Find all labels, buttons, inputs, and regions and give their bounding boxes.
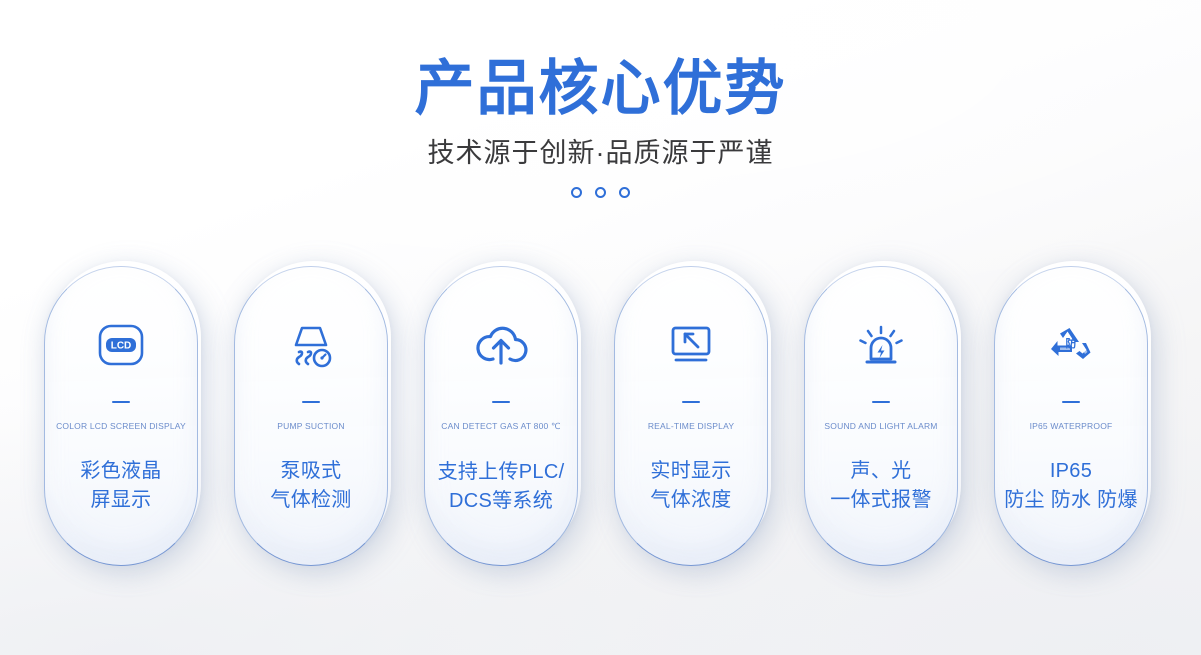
card-title-line-1: IP65 — [1004, 457, 1138, 486]
feature-card[interactable]: PUMP SUCTION 泵吸式 气体检测 — [234, 266, 388, 566]
recycle-icon-label: 防 — [1066, 336, 1077, 350]
page-subtitle: 技术源于创新·品质源于严谨 — [0, 120, 1201, 169]
card-title: 声、光 一体式报警 — [824, 457, 938, 515]
card-title-line-2: 气体浓度 — [650, 486, 731, 515]
feature-card[interactable]: REAL-TIME DISPLAY 实时显示 气体浓度 — [614, 266, 768, 566]
card-title-line-1: 泵吸式 — [270, 457, 351, 486]
dot-3 — [619, 187, 630, 198]
card-title-line-1: 声、光 — [830, 457, 932, 486]
lcd-icon-label: LCD — [111, 340, 132, 351]
monitor-display-icon — [665, 319, 717, 371]
card-title-line-1: 支持上传PLC/ — [438, 458, 565, 487]
feature-card[interactable]: SOUND AND LIGHT ALARM 声、光 一体式报警 — [804, 266, 958, 566]
cloud-upload-icon — [474, 319, 528, 371]
card-divider — [492, 401, 510, 403]
card-divider — [302, 401, 320, 403]
card-eyebrow: REAL-TIME DISPLAY — [648, 421, 734, 431]
feature-card[interactable]: 防 IP65 WATERPROOF IP65 防尘 防水 防爆 — [994, 266, 1148, 566]
page-title: 产品核心优势 — [0, 0, 1201, 120]
card-title: 支持上传PLC/ DCS等系统 — [432, 458, 571, 516]
page-header: 产品核心优势 技术源于创新·品质源于严谨 — [0, 0, 1201, 198]
card-title-line-2: 防尘 防水 防爆 — [1004, 486, 1138, 515]
card-title: 实时显示 气体浓度 — [644, 457, 737, 515]
card-divider — [682, 401, 700, 403]
card-eyebrow: IP65 WATERPROOF — [1030, 421, 1113, 431]
dot-1 — [571, 187, 582, 198]
card-divider — [112, 401, 130, 403]
card-title-line-2: 屏显示 — [80, 486, 161, 515]
card-divider — [872, 401, 890, 403]
pump-suction-icon — [286, 319, 336, 371]
card-divider — [1062, 401, 1080, 403]
decorative-dots — [0, 170, 1201, 198]
card-title: IP65 防尘 防水 防爆 — [998, 457, 1144, 515]
card-title-line-2: 一体式报警 — [830, 486, 932, 515]
feature-card[interactable]: CAN DETECT GAS AT 800 ℃ 支持上传PLC/ DCS等系统 — [424, 266, 578, 566]
card-eyebrow: COLOR LCD SCREEN DISPLAY — [56, 421, 186, 431]
feature-card-row: LCD COLOR LCD SCREEN DISPLAY 彩色液晶 屏显示 — [44, 266, 1157, 566]
card-title-line-1: 实时显示 — [650, 457, 731, 486]
recycle-protection-icon: 防 — [1045, 319, 1097, 371]
lcd-screen-icon: LCD — [97, 319, 145, 371]
card-title-line-2: DCS等系统 — [438, 487, 565, 516]
card-eyebrow: SOUND AND LIGHT ALARM — [824, 421, 937, 431]
card-title: 泵吸式 气体检测 — [264, 457, 357, 515]
card-title-line-1: 彩色液晶 — [80, 457, 161, 486]
feature-card[interactable]: LCD COLOR LCD SCREEN DISPLAY 彩色液晶 屏显示 — [44, 266, 198, 566]
card-title: 彩色液晶 屏显示 — [74, 457, 167, 515]
alarm-beacon-icon — [855, 319, 907, 371]
card-title-line-2: 气体检测 — [270, 486, 351, 515]
card-eyebrow: CAN DETECT GAS AT 800 ℃ — [441, 421, 561, 432]
card-eyebrow: PUMP SUCTION — [277, 421, 344, 431]
dot-2 — [595, 187, 606, 198]
